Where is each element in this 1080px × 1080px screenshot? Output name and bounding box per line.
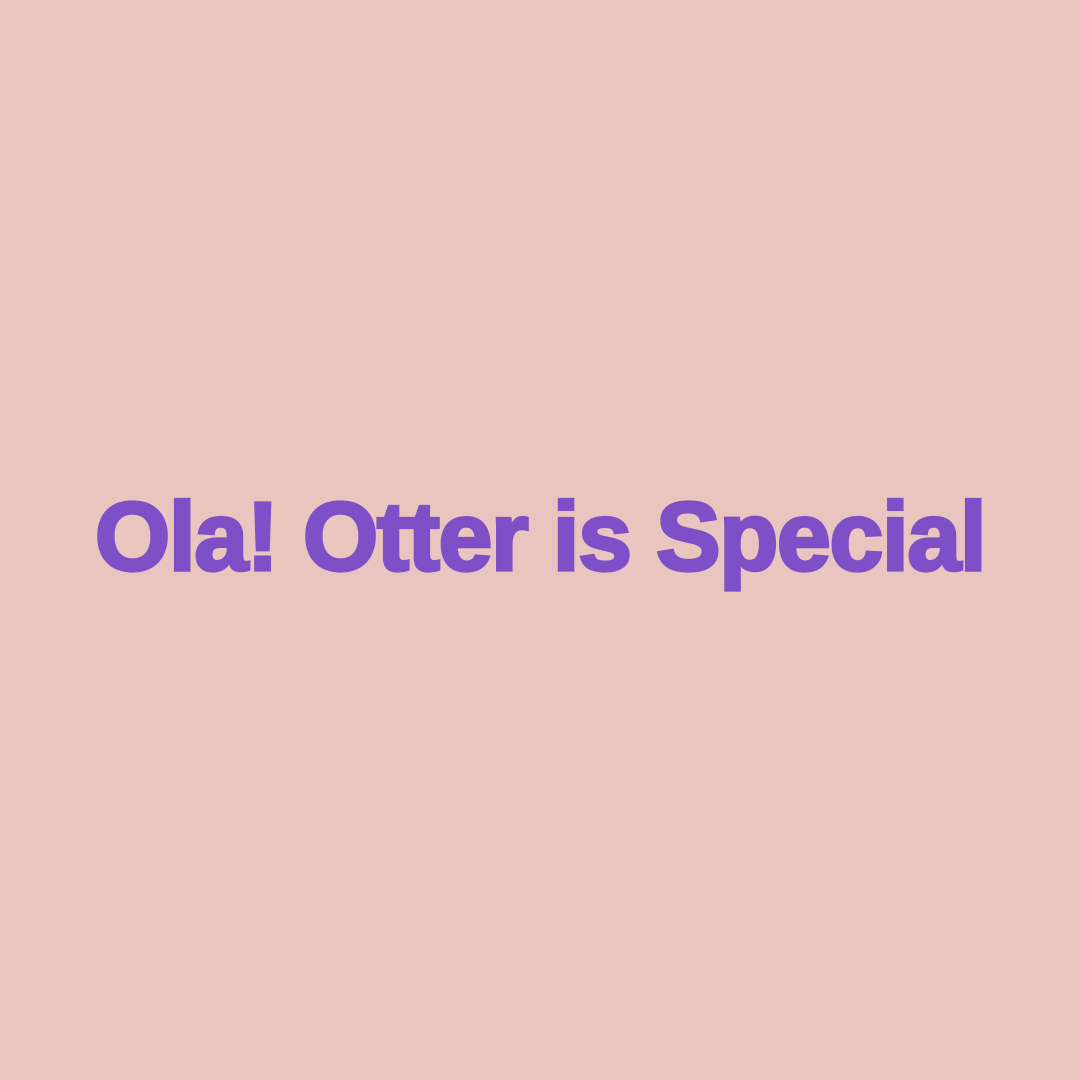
poster-canvas: Ola! Otter is Special (0, 0, 1080, 1080)
headline-block: Ola! Otter is Special (0, 488, 1080, 585)
headline-text: Ola! Otter is Special (0, 488, 1080, 585)
